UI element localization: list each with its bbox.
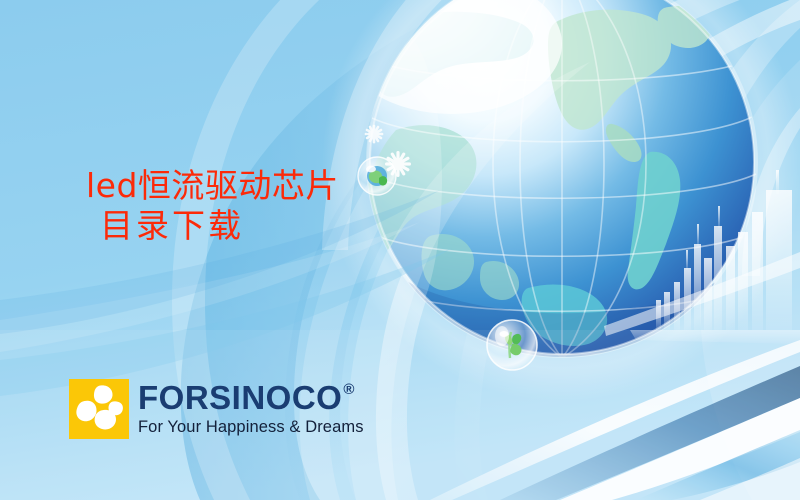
brand-name: FORSINOCO: [138, 381, 342, 414]
bubble-globe-icon: [358, 157, 396, 195]
registered-trademark-icon: ®: [343, 382, 354, 397]
flower-petal-logo-icon: [69, 379, 129, 439]
company-logo: FORSINOCO ® For Your Happiness & Dreams: [69, 379, 364, 439]
brand-tagline: For Your Happiness & Dreams: [138, 418, 364, 437]
banner-image: led恒流驱动芯片 目录下载 FORSINOCO ®: [0, 0, 800, 500]
